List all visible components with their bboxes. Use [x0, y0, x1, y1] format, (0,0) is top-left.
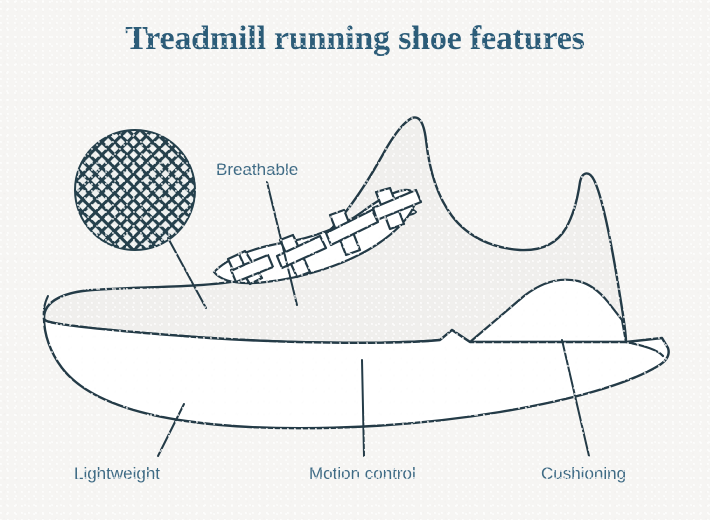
infographic-canvas: Treadmill running shoe features: [0, 0, 710, 520]
page-title: Treadmill running shoe features: [0, 20, 710, 58]
callout-label-lightweight: Lightweight: [74, 464, 160, 484]
mesh-swatch: [73, 128, 197, 252]
callout-label-cushioning: Cushioning: [541, 464, 626, 484]
callout-label-breathable: Breathable: [216, 160, 298, 180]
callout-label-motion-control: Motion control: [309, 464, 416, 484]
shoe-illustration: [0, 0, 710, 520]
